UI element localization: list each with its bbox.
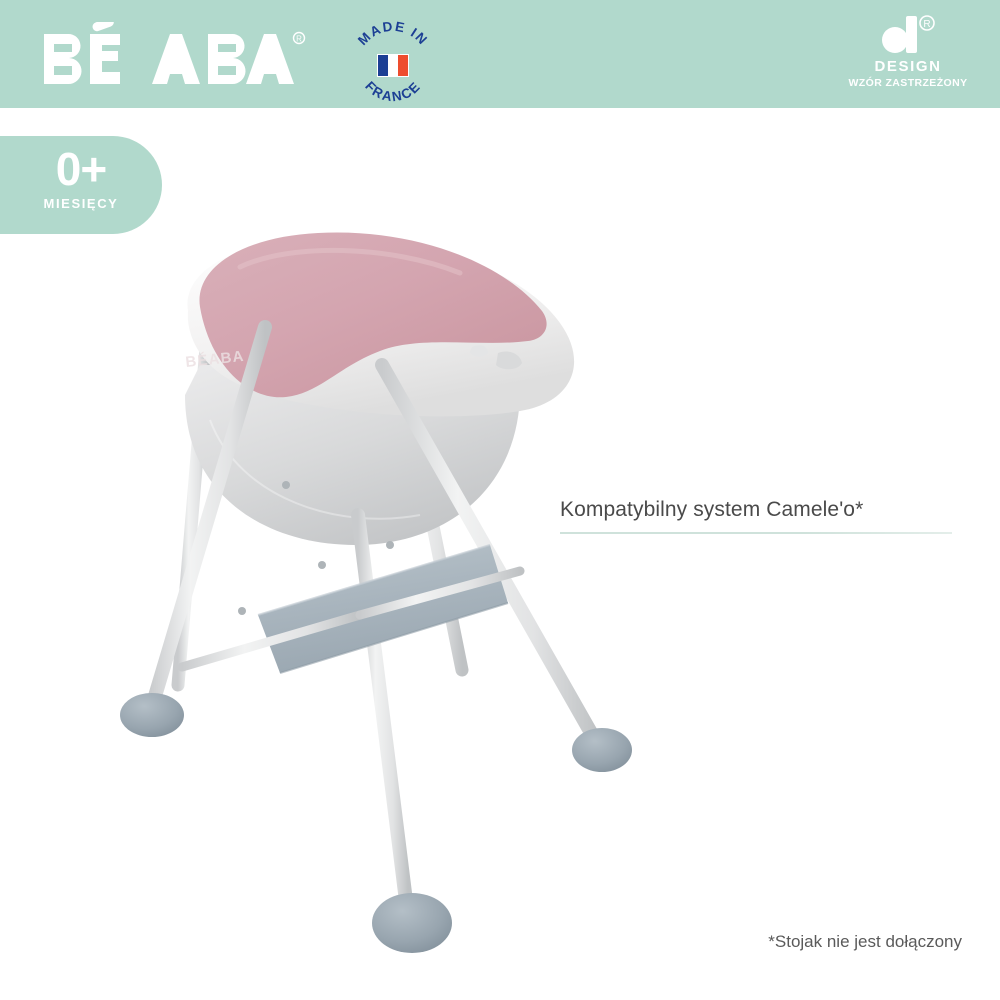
compatibility-callout: Kompatybilny system Camele'o* <box>560 496 960 534</box>
stand-rivet <box>386 541 394 549</box>
stand-rivet <box>238 607 246 615</box>
footnote-disclaimer: *Stojak nie jest dołączony <box>768 932 962 952</box>
beaba-brand-logo: R <box>40 22 310 86</box>
age-badge-value: 0+ <box>0 148 162 192</box>
stand-foot-left <box>120 693 184 737</box>
stand-lower-brace <box>182 571 520 667</box>
french-flag-icon <box>378 55 408 76</box>
stand-foot-front <box>372 893 452 953</box>
stand-feet <box>120 693 632 953</box>
compatibility-callout-text: Kompatybilny system Camele'o* <box>560 496 960 523</box>
svg-text:MADE IN: MADE IN <box>355 19 431 49</box>
compatibility-callout-rule <box>560 532 952 534</box>
design-monogram-icon: R <box>838 14 978 58</box>
stand-rivet <box>282 481 290 489</box>
stand-foot-right <box>572 728 632 772</box>
product-marketing-image: R MADE IN FRANCE <box>0 0 1000 1000</box>
header-band: R MADE IN FRANCE <box>0 0 1000 108</box>
svg-text:FRANCE: FRANCE <box>362 78 423 104</box>
design-registered-badge: R DESIGN WZÓR ZASTRZEŻONY <box>838 14 978 98</box>
made-in-text: MADE IN <box>355 19 431 49</box>
design-badge-subtitle: WZÓR ZASTRZEŻONY <box>838 78 978 89</box>
age-badge-unit: MIESIĘCY <box>0 196 162 211</box>
france-text: FRANCE <box>362 78 423 104</box>
svg-text:R: R <box>923 19 930 30</box>
product-image: BÉABA <box>90 215 670 955</box>
svg-text:R: R <box>296 35 302 44</box>
design-badge-title: DESIGN <box>838 59 978 74</box>
made-in-france-badge: MADE IN FRANCE <box>345 16 441 108</box>
stand-rivet <box>318 561 326 569</box>
